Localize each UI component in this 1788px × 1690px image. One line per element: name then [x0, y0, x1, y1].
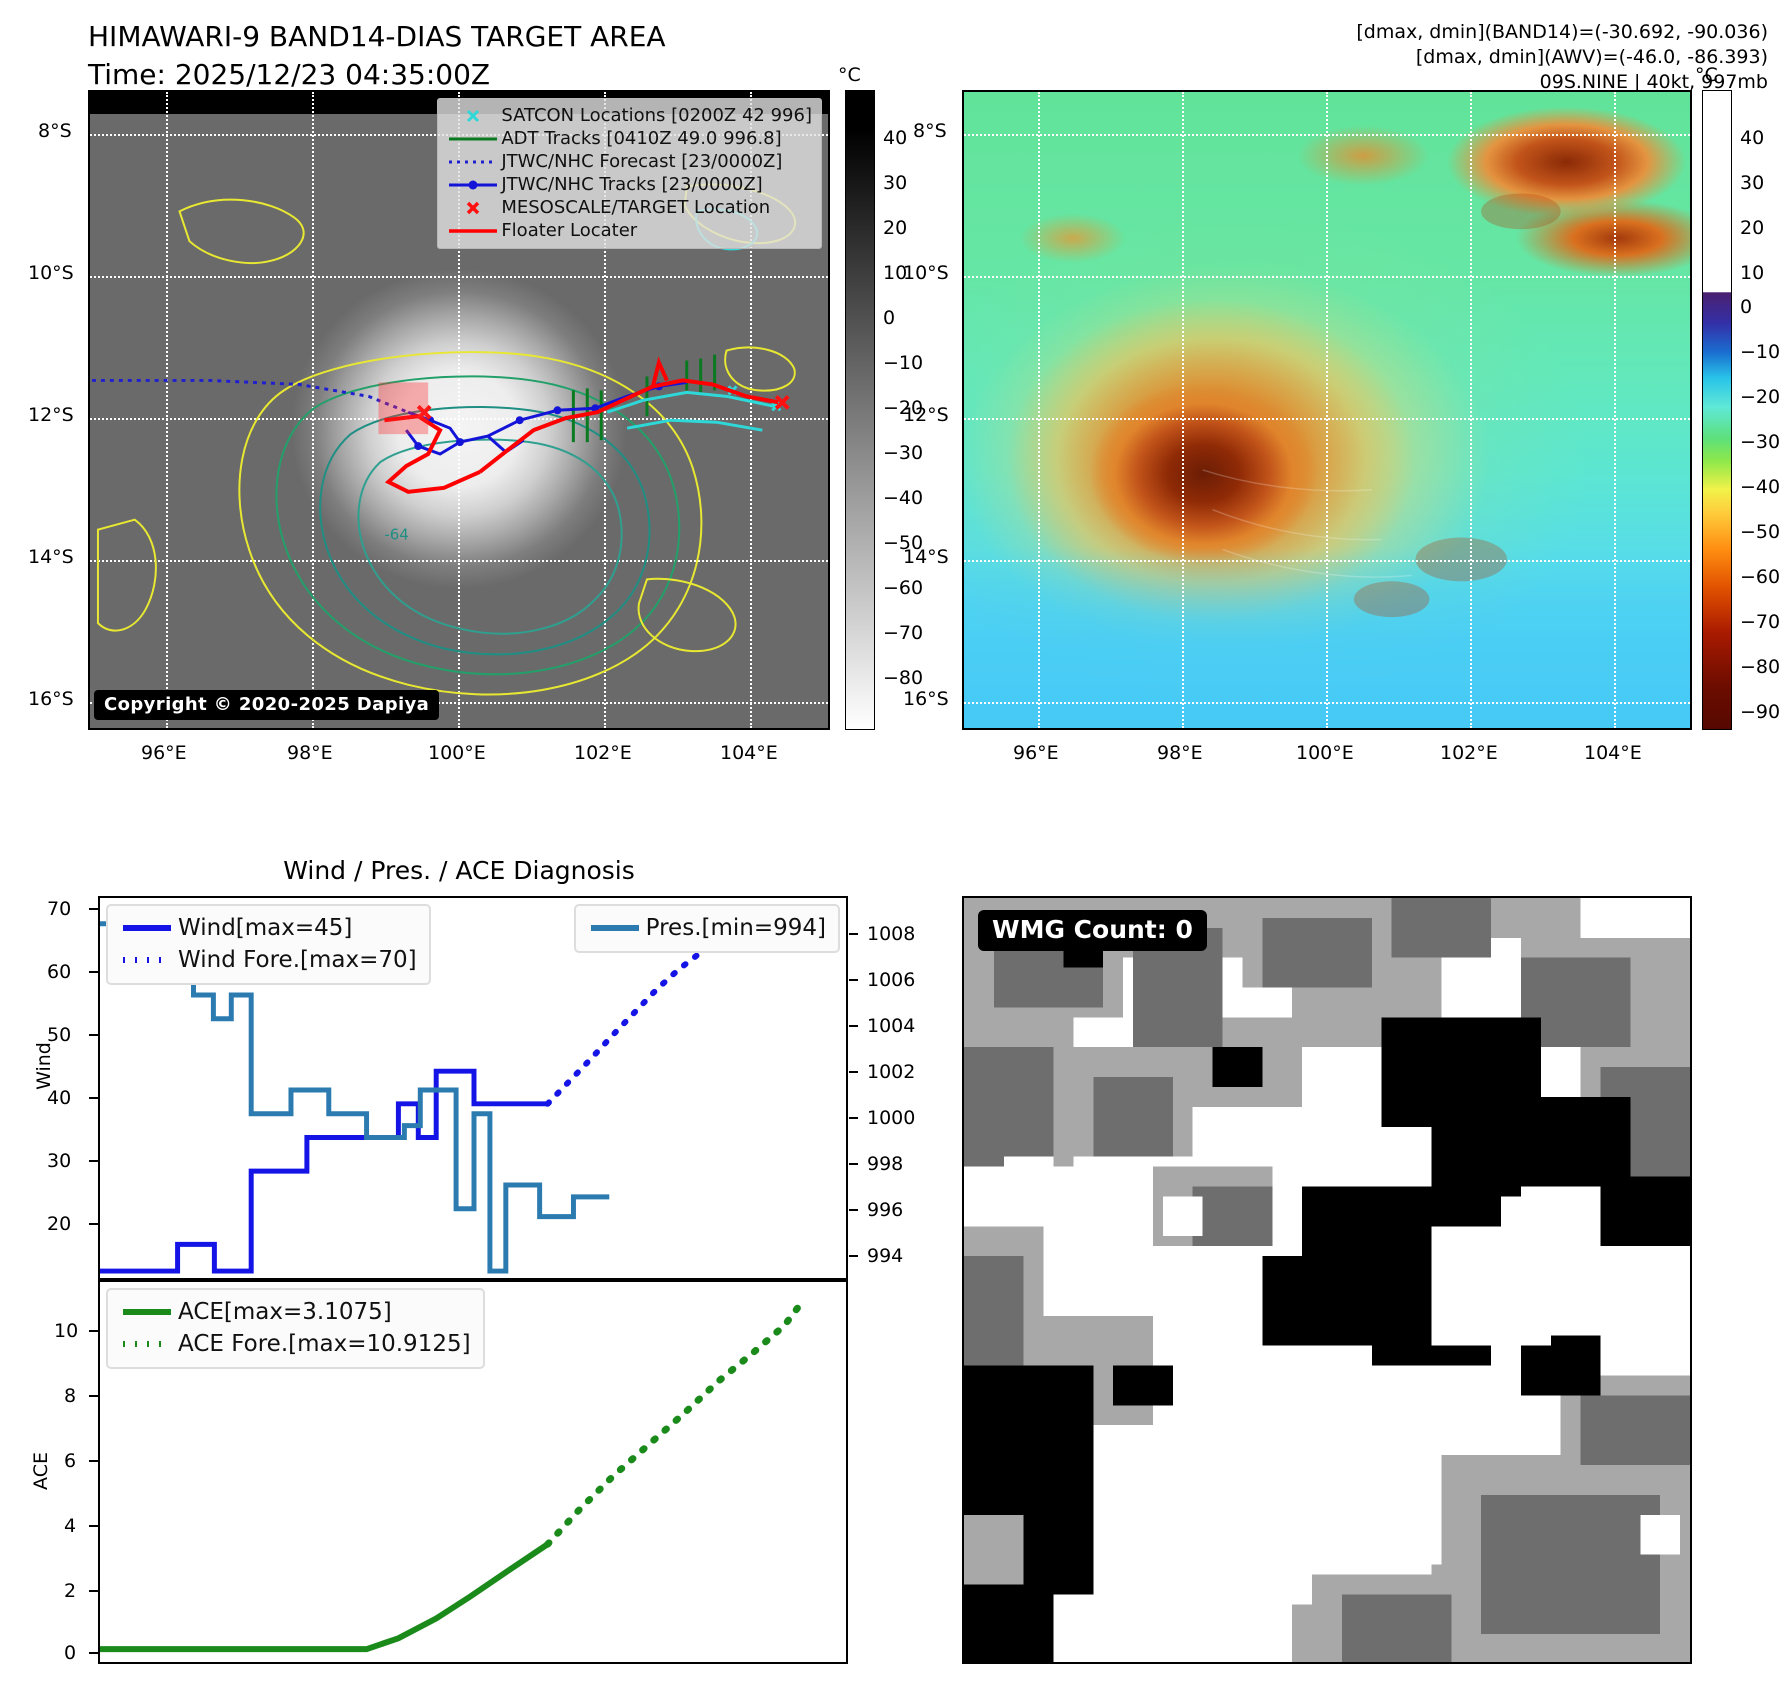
gray-cb-tick: 40 [883, 127, 907, 149]
wind-axis-label: Wind [33, 1042, 55, 1090]
ace-tick-label: 8 [64, 1385, 76, 1407]
pressure-tick-label: 994 [867, 1245, 903, 1267]
copyright-badge: Copyright © 2020-2025 Dapiya [94, 690, 439, 720]
legend-label: JTWC/NHC Forecast [23/0000Z] [501, 151, 782, 172]
wind-tick-mark [89, 1034, 98, 1036]
legend-row: SATCON Locations [0200Z 42 996] [445, 104, 812, 127]
wind-tick-label: 30 [47, 1150, 71, 1172]
gridline-lon-96e [1038, 92, 1040, 728]
gray-cb-tick: −80 [883, 667, 923, 689]
awv-lat-tick: 12°S [903, 404, 949, 426]
pressure-tick-label: 1006 [867, 969, 915, 991]
gridline-lon-102e [1470, 92, 1472, 728]
legend-label: ACE Fore.[max=10.9125] [178, 1331, 471, 1357]
gray-cb-tick: −70 [883, 622, 923, 644]
gray-cb-tick: −40 [883, 487, 923, 509]
line-marker-icon [445, 178, 501, 192]
pressure-tick-mark [849, 1071, 858, 1073]
ir-map-legend: SATCON Locations [0200Z 42 996] ADT Trac… [437, 98, 822, 249]
legend-row: Floater Locater [445, 219, 812, 242]
legend-row: ADT Tracks [0410Z 49.0 996.8] [445, 127, 812, 150]
wind-tick-mark [89, 1160, 98, 1162]
gray-cb-tick: −10 [883, 352, 923, 374]
pressure-tick-label: 1002 [867, 1061, 915, 1083]
ir-lat-tick: 16°S [28, 688, 74, 710]
pressure-tick-mark [849, 1255, 858, 1257]
pressure-tick-label: 996 [867, 1199, 903, 1221]
ace-tick-mark [89, 1652, 98, 1654]
legend-row: JTWC/NHC Tracks [23/0000Z] [445, 173, 812, 196]
solid-line-icon [584, 921, 646, 935]
ir-lon-tick: 102°E [574, 742, 632, 764]
ace-tick-mark [89, 1460, 98, 1462]
ace-chart[interactable]: ACE[max=3.1075] ACE Fore.[max=10.9125] [98, 1280, 848, 1664]
solid-line-icon [116, 921, 178, 935]
wmg-mask-image [964, 898, 1690, 1662]
color-cb-tick: 40 [1740, 127, 1764, 149]
wind-tick-mark [89, 1097, 98, 1099]
diagnosis-subtitle: Wind / Pres. / ACE Diagnosis [88, 856, 830, 885]
awv-lon-tick: 98°E [1157, 742, 1203, 764]
dashboard-root: HIMAWARI-9 BAND14-DIAS TARGET AREA Time:… [0, 0, 1788, 1690]
legend-label: Floater Locater [501, 220, 637, 241]
legend-label: Pres.[min=994] [646, 915, 826, 941]
color-cb-tick: −40 [1740, 476, 1780, 498]
awv-satellite-map[interactable] [962, 90, 1692, 730]
legend-row: MESOSCALE/TARGET Location [445, 196, 812, 219]
ir-lat-tick: 8°S [38, 120, 72, 142]
pressure-tick-label: 1000 [867, 1107, 915, 1129]
legend-label: Wind Fore.[max=70] [178, 947, 417, 973]
ir-lon-tick: 96°E [141, 742, 187, 764]
awv-lon-tick: 100°E [1296, 742, 1354, 764]
pressure-tick-mark [849, 1117, 858, 1119]
gridline-lon-98e [1182, 92, 1184, 728]
ir-lat-tick: 12°S [28, 404, 74, 426]
legend-row: JTWC/NHC Forecast [23/0000Z] [445, 150, 812, 173]
ir-lon-tick: 98°E [287, 742, 333, 764]
color-cb-tick: −80 [1740, 656, 1780, 678]
wmg-mask-panel[interactable]: WMG Count: 0 [962, 896, 1692, 1664]
gray-colorbar [845, 90, 875, 730]
legend-row: ACE Fore.[max=10.9125] [116, 1328, 471, 1360]
pressure-tick-mark [849, 933, 858, 935]
awv-lat-tick: 10°S [903, 262, 949, 284]
pressure-legend: Pres.[min=994] [574, 904, 840, 953]
color-cb-tick: −70 [1740, 611, 1780, 633]
wind-pressure-chart[interactable]: Wind[max=45] Wind Fore.[max=70] Pres.[mi… [98, 896, 848, 1280]
wind-tick-mark [89, 971, 98, 973]
color-cb-tick: −90 [1740, 701, 1780, 723]
pressure-tick-mark [849, 1163, 858, 1165]
ace-tick-mark [89, 1525, 98, 1527]
color-cb-tick: 30 [1740, 172, 1764, 194]
legend-label: MESOSCALE/TARGET Location [501, 197, 770, 218]
gray-cb-tick: 0 [883, 307, 895, 329]
legend-row: ACE[max=3.1075] [116, 1296, 471, 1328]
color-colorbar [1702, 90, 1732, 730]
ace-tick-label: 0 [64, 1642, 76, 1664]
pressure-tick-label: 998 [867, 1153, 903, 1175]
ir-lon-tick: 100°E [428, 742, 486, 764]
gray-cb-tick: 20 [883, 217, 907, 239]
awv-lat-tick: 16°S [903, 688, 949, 710]
ir-satellite-map[interactable]: -64 SATCON Locations [0200Z 42 996] ADT … [88, 90, 830, 730]
awv-lat-tick: 8°S [913, 120, 947, 142]
legend-label: ADT Tracks [0410Z 49.0 996.8] [501, 128, 781, 149]
gray-cb-tick: 30 [883, 172, 907, 194]
color-cb-tick: −60 [1740, 566, 1780, 588]
ace-axis-label: ACE [30, 1452, 52, 1490]
ir-lat-tick: 14°S [28, 546, 74, 568]
gridline-lon-100e [1326, 92, 1328, 728]
ace-tick-mark [89, 1330, 98, 1332]
dotted-line-icon [445, 155, 501, 169]
color-cb-tick: −30 [1740, 431, 1780, 453]
awv-lon-tick: 104°E [1584, 742, 1642, 764]
ace-tick-label: 4 [64, 1515, 76, 1537]
awv-lat-tick: 14°S [903, 546, 949, 568]
x-marker-icon [445, 107, 501, 125]
wind-tick-label: 60 [47, 961, 71, 983]
pressure-tick-mark [849, 1209, 858, 1211]
ace-tick-label: 2 [64, 1580, 76, 1602]
pressure-tick-label: 1008 [867, 923, 915, 945]
dmax-band14-line: [dmax, dmin](BAND14)=(-30.692, -90.036) [1356, 20, 1768, 45]
gray-cb-tick: −60 [883, 577, 923, 599]
wmg-count-badge: WMG Count: 0 [978, 910, 1207, 951]
legend-label: Wind[max=45] [178, 915, 352, 941]
color-colorbar-unit: °C [1695, 64, 1718, 86]
x-marker-icon [445, 199, 501, 217]
wind-tick-label: 20 [47, 1213, 71, 1235]
wind-tick-label: 40 [47, 1087, 71, 1109]
legend-label: SATCON Locations [0200Z 42 996] [501, 105, 812, 126]
page-title: HIMAWARI-9 BAND14-DIAS TARGET AREA Time:… [88, 18, 666, 94]
pressure-tick-mark [849, 1025, 858, 1027]
time-line: Time: 2025/12/23 04:35:00Z [88, 56, 666, 94]
wind-legend: Wind[max=45] Wind Fore.[max=70] [106, 904, 431, 985]
legend-row: Wind[max=45] [116, 912, 417, 944]
legend-row: Pres.[min=994] [584, 912, 826, 944]
awv-lon-tick: 96°E [1013, 742, 1059, 764]
svg-text:-64: -64 [384, 526, 408, 544]
ace-tick-label: 6 [64, 1450, 76, 1472]
ir-lon-tick: 104°E [720, 742, 778, 764]
legend-row: Wind Fore.[max=70] [116, 944, 417, 976]
wind-tick-mark [89, 1223, 98, 1225]
color-cb-tick: 10 [1740, 262, 1764, 284]
gridline-lon-104e [1614, 92, 1616, 728]
color-cb-tick: −20 [1740, 386, 1780, 408]
ace-legend: ACE[max=3.1075] ACE Fore.[max=10.9125] [106, 1288, 485, 1369]
solid-line-icon [445, 224, 501, 238]
gray-cb-tick: −30 [883, 442, 923, 464]
pressure-tick-label: 1004 [867, 1015, 915, 1037]
color-cb-tick: 20 [1740, 217, 1764, 239]
legend-label: JTWC/NHC Tracks [23/0000Z] [501, 174, 762, 195]
title-line: HIMAWARI-9 BAND14-DIAS TARGET AREA [88, 18, 666, 56]
pressure-tick-mark [849, 979, 858, 981]
color-cb-tick: 0 [1740, 296, 1752, 318]
dotted-line-icon [116, 1337, 178, 1351]
ace-tick-label: 10 [54, 1320, 78, 1342]
gray-colorbar-unit: °C [838, 64, 861, 86]
wind-tick-mark [89, 908, 98, 910]
color-cb-tick: −10 [1740, 341, 1780, 363]
legend-label: ACE[max=3.1075] [178, 1299, 392, 1325]
ir-lat-tick: 10°S [28, 262, 74, 284]
solid-line-icon [116, 1305, 178, 1319]
color-cb-tick: −50 [1740, 521, 1780, 543]
ace-tick-mark [89, 1590, 98, 1592]
dotted-line-icon [116, 953, 178, 967]
awv-lon-tick: 102°E [1440, 742, 1498, 764]
solid-line-icon [445, 132, 501, 146]
ace-tick-mark [89, 1395, 98, 1397]
wind-tick-label: 70 [47, 898, 71, 920]
